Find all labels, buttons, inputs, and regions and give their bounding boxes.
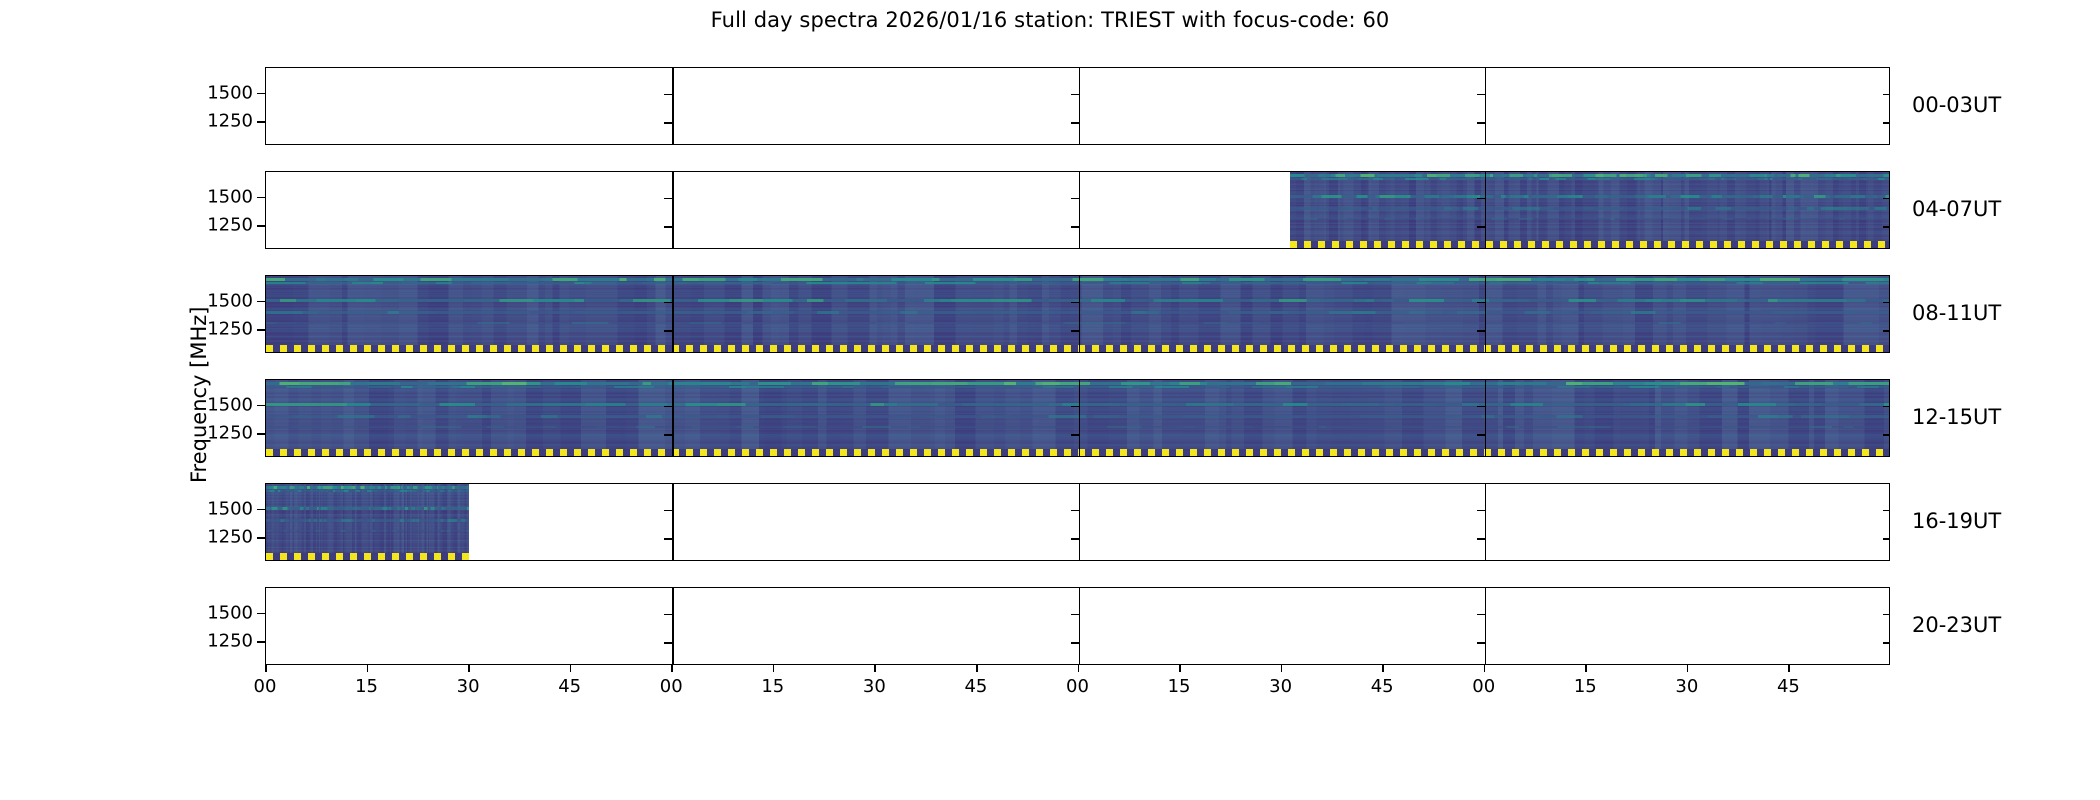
inner-y-tick — [1477, 642, 1485, 644]
inner-y-tick — [1477, 226, 1485, 228]
y-tick-label: 1500 — [207, 498, 253, 519]
y-tick-mark — [257, 225, 265, 227]
inner-y-tick — [1071, 198, 1079, 200]
subpanel-separator — [1485, 68, 1487, 144]
spectrogram-row-00-03ut — [265, 67, 1890, 145]
x-tick-mark — [1179, 665, 1181, 672]
row-label-08-11ut: 08-11UT — [1912, 301, 2001, 325]
inner-y-tick — [1477, 302, 1485, 304]
x-tick-label: 30 — [1269, 676, 1292, 697]
subpanel-separator — [1079, 380, 1081, 456]
inner-y-tick — [1883, 406, 1890, 408]
row-label-12-15ut: 12-15UT — [1912, 405, 2001, 429]
inner-y-tick — [1883, 510, 1890, 512]
inner-y-tick — [1883, 198, 1890, 200]
inner-y-tick — [1071, 538, 1079, 540]
spectrogram-row-16-19ut — [265, 483, 1890, 561]
figure-canvas: Full day spectra 2026/01/16 station: TRI… — [0, 0, 2100, 800]
subpanel-separator — [672, 484, 674, 560]
x-tick-label: 30 — [1675, 676, 1698, 697]
inner-y-tick — [1071, 302, 1079, 304]
spectrogram-column-mottle — [1290, 172, 1890, 248]
spectrogram-emission-band — [1290, 207, 1890, 210]
y-tick-label: 1500 — [207, 290, 253, 311]
subpanel-separator — [672, 588, 674, 664]
spectrogram-row-12-15ut — [265, 379, 1890, 457]
inner-y-tick — [664, 122, 672, 124]
subpanel-separator — [672, 276, 674, 352]
inner-y-tick — [1071, 226, 1079, 228]
spectrogram-emission-band — [1290, 174, 1890, 178]
spectrogram-row-08-11ut — [265, 275, 1890, 353]
subpanel-separator — [1079, 484, 1081, 560]
x-tick-label: 45 — [1371, 676, 1394, 697]
inner-y-tick — [664, 94, 672, 96]
inner-y-tick — [1883, 302, 1890, 304]
x-tick-label: 00 — [660, 676, 683, 697]
spectrogram-row-04-07ut — [265, 171, 1890, 249]
subpanel-separator — [1485, 588, 1487, 664]
inner-y-tick — [1071, 434, 1079, 436]
inner-y-tick — [1883, 538, 1890, 540]
x-tick-mark — [1788, 665, 1790, 672]
inner-y-tick — [1477, 510, 1485, 512]
x-tick-label: 00 — [1472, 676, 1495, 697]
y-tick-mark — [257, 93, 265, 95]
inner-y-tick — [1883, 226, 1890, 228]
inner-y-tick — [1883, 122, 1890, 124]
inner-y-tick — [1477, 198, 1485, 200]
inner-y-tick — [1477, 330, 1485, 332]
spectrogram-emission-band — [1290, 178, 1890, 180]
x-tick-mark — [976, 665, 978, 672]
inner-y-tick — [1071, 330, 1079, 332]
x-tick-mark — [1281, 665, 1283, 672]
y-tick-label: 1250 — [207, 423, 253, 444]
spectrogram-emission-band — [1290, 195, 1890, 199]
y-tick-mark — [257, 433, 265, 435]
x-tick-mark — [570, 665, 572, 672]
x-tick-label: 45 — [1777, 676, 1800, 697]
subpanel-separator — [1485, 172, 1487, 248]
figure-title: Full day spectra 2026/01/16 station: TRI… — [0, 8, 2100, 32]
inner-y-tick — [1477, 614, 1485, 616]
inner-y-tick — [1071, 406, 1079, 408]
inner-y-tick — [1071, 94, 1079, 96]
x-tick-mark — [874, 665, 876, 672]
spectrogram-data-04-07ut — [1290, 172, 1890, 248]
inner-y-tick — [1071, 642, 1079, 644]
x-tick-mark — [671, 665, 673, 672]
inner-y-tick — [1477, 434, 1485, 436]
x-tick-label: 00 — [1066, 676, 1089, 697]
spectrogram-row-20-23ut — [265, 587, 1890, 665]
subpanel-separator — [672, 172, 674, 248]
subpanel-separator — [672, 68, 674, 144]
y-tick-label: 1250 — [207, 319, 253, 340]
x-tick-mark — [773, 665, 775, 672]
spectrogram-emission-band — [266, 519, 469, 522]
inner-y-tick — [1883, 330, 1890, 332]
inner-y-tick — [664, 406, 672, 408]
spectrogram-data-16-19ut — [266, 484, 469, 560]
subpanel-separator — [1485, 380, 1487, 456]
inner-y-tick — [664, 302, 672, 304]
x-tick-mark — [1382, 665, 1384, 672]
x-tick-label: 15 — [1168, 676, 1191, 697]
inner-y-tick — [1477, 94, 1485, 96]
inner-y-tick — [664, 434, 672, 436]
subpanel-separator — [1485, 276, 1487, 352]
x-tick-mark — [367, 665, 369, 672]
x-tick-label: 45 — [558, 676, 581, 697]
inner-y-tick — [1477, 406, 1485, 408]
y-tick-mark — [257, 613, 265, 615]
row-label-16-19ut: 16-19UT — [1912, 509, 2001, 533]
subpanel-separator — [1079, 68, 1081, 144]
y-tick-mark — [257, 537, 265, 539]
inner-y-tick — [1071, 614, 1079, 616]
subpanel-separator — [1079, 276, 1081, 352]
x-tick-label: 15 — [761, 676, 784, 697]
spectrogram-bottom-dash-strip — [266, 553, 469, 560]
x-tick-label: 30 — [457, 676, 480, 697]
x-tick-mark — [1078, 665, 1080, 672]
spectrogram-emission-band — [266, 507, 469, 511]
x-tick-mark — [1585, 665, 1587, 672]
subpanel-separator — [1079, 588, 1081, 664]
inner-y-tick — [664, 198, 672, 200]
inner-y-tick — [664, 538, 672, 540]
inner-y-tick — [1883, 434, 1890, 436]
inner-y-tick — [664, 510, 672, 512]
y-tick-mark — [257, 197, 265, 199]
spectrogram-emission-band — [266, 530, 469, 532]
y-tick-label: 1500 — [207, 602, 253, 623]
inner-y-tick — [664, 226, 672, 228]
row-label-00-03ut: 00-03UT — [1912, 93, 2001, 117]
spectrogram-emission-band — [266, 486, 469, 490]
row-label-04-07ut: 04-07UT — [1912, 197, 2001, 221]
y-tick-mark — [257, 329, 265, 331]
x-tick-mark — [1484, 665, 1486, 672]
subpanel-separator — [1485, 484, 1487, 560]
y-tick-label: 1250 — [207, 527, 253, 548]
y-tick-label: 1500 — [207, 186, 253, 207]
subpanel-separator — [672, 380, 674, 456]
inner-y-tick — [1071, 122, 1079, 124]
x-tick-mark — [1687, 665, 1689, 672]
subpanel-separator — [1079, 172, 1081, 248]
inner-y-tick — [1883, 614, 1890, 616]
x-tick-label: 15 — [1574, 676, 1597, 697]
inner-y-tick — [664, 330, 672, 332]
y-tick-label: 1250 — [207, 215, 253, 236]
x-tick-mark — [468, 665, 470, 672]
spectrogram-emission-band — [1290, 218, 1890, 220]
y-tick-mark — [257, 641, 265, 643]
y-tick-mark — [257, 121, 265, 123]
spectrogram-bottom-dash-strip — [1290, 241, 1890, 248]
y-tick-label: 1500 — [207, 394, 253, 415]
y-tick-mark — [257, 405, 265, 407]
y-tick-mark — [257, 509, 265, 511]
inner-y-tick — [664, 614, 672, 616]
x-tick-label: 15 — [355, 676, 378, 697]
inner-y-tick — [1477, 538, 1485, 540]
x-tick-mark — [265, 665, 267, 672]
y-tick-label: 1250 — [207, 631, 253, 652]
inner-y-tick — [1477, 122, 1485, 124]
y-tick-label: 1250 — [207, 111, 253, 132]
spectrogram-column-mottle — [266, 484, 469, 560]
y-tick-label: 1500 — [207, 82, 253, 103]
row-label-20-23ut: 20-23UT — [1912, 613, 2001, 637]
inner-y-tick — [1883, 94, 1890, 96]
inner-y-tick — [1883, 642, 1890, 644]
inner-y-tick — [1071, 510, 1079, 512]
x-tick-label: 00 — [254, 676, 277, 697]
x-tick-label: 30 — [863, 676, 886, 697]
inner-y-tick — [664, 642, 672, 644]
x-tick-label: 45 — [964, 676, 987, 697]
spectrogram-emission-band — [266, 490, 469, 492]
y-tick-mark — [257, 301, 265, 303]
